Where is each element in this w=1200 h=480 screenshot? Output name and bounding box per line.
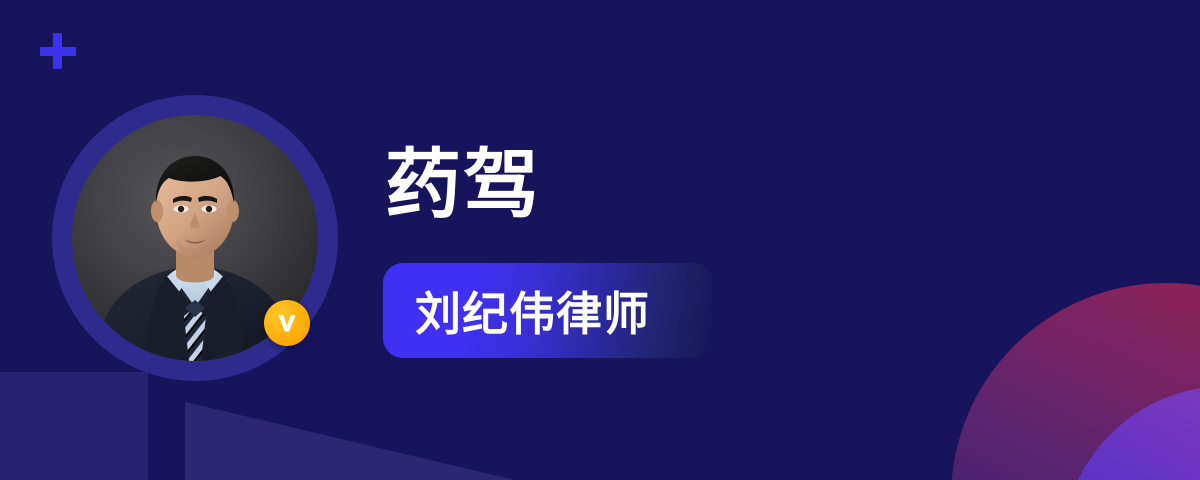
- plus-icon: [40, 33, 76, 69]
- verified-badge: [264, 300, 310, 346]
- decorative-triangle-shape: [185, 402, 515, 480]
- avatar: [52, 95, 338, 381]
- lawyer-name-badge[interactable]: 刘纪伟律师: [383, 263, 713, 358]
- lawyer-name-label: 刘纪伟律师: [383, 278, 650, 344]
- decorative-band-shape: [0, 372, 148, 480]
- verified-check-icon: [274, 310, 300, 336]
- profile-banner: 药驾 刘纪伟律师: [0, 0, 1200, 480]
- page-title: 药驾: [385, 148, 541, 224]
